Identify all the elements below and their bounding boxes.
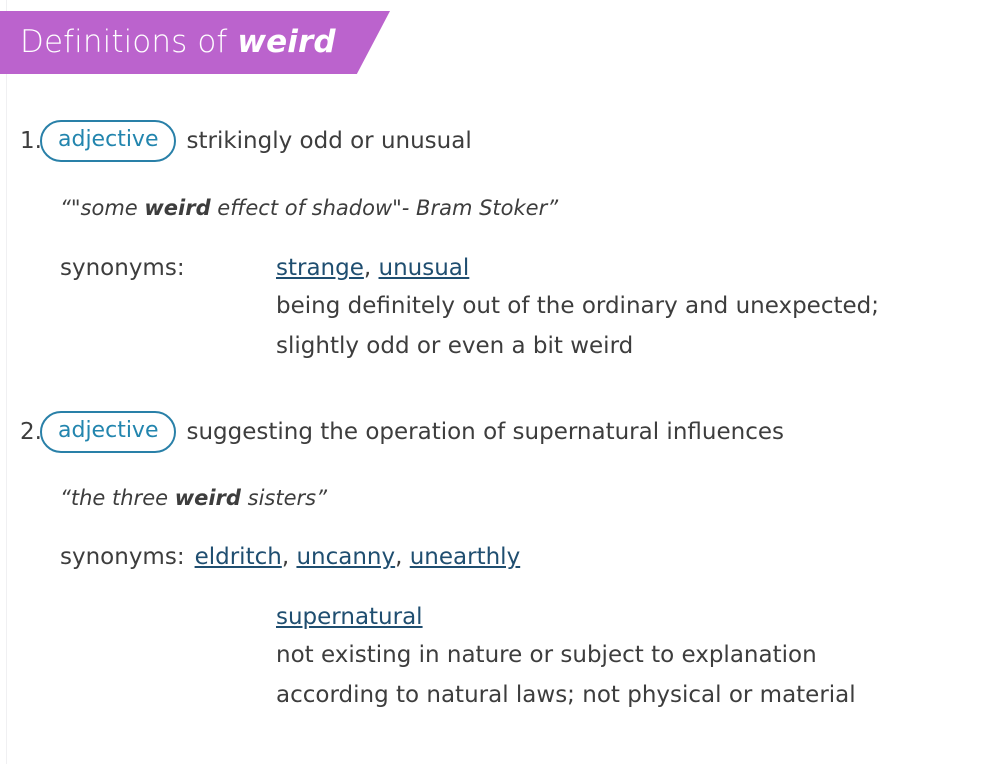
definition-1-synonym-definition-line-1: being definitely out of the ordinary and… bbox=[276, 287, 998, 327]
definition-2-extra-definition: not existing in nature or subject to exp… bbox=[276, 636, 998, 715]
synonym-link-unusual[interactable]: unusual bbox=[379, 255, 470, 281]
definition-entry-1: 1. adjective strikingly odd or unusual “… bbox=[0, 120, 998, 366]
header-banner: Definitions of weird bbox=[0, 11, 390, 74]
definitions-list: 1. adjective strikingly odd or unusual “… bbox=[0, 74, 998, 715]
synonym-link-unearthly[interactable]: unearthly bbox=[410, 544, 520, 570]
definition-1-synonym-definition: being definitely out of the ordinary and… bbox=[276, 287, 998, 366]
definition-2-headline: 2. adjective suggesting the operation of… bbox=[0, 411, 998, 453]
synonym-link-uncanny[interactable]: uncanny bbox=[296, 544, 395, 570]
part-of-speech-badge-2[interactable]: adjective bbox=[40, 411, 176, 453]
definition-1-quote-open: “"some bbox=[60, 196, 144, 220]
definition-2-quote-close: sisters” bbox=[241, 486, 327, 510]
definition-1-number: 1. bbox=[0, 128, 40, 154]
definition-2-synonyms-body: eldritch, uncanny, unearthly bbox=[195, 544, 998, 570]
definition-2-number: 2. bbox=[0, 419, 40, 445]
part-of-speech-badge-1[interactable]: adjective bbox=[40, 120, 176, 162]
page-title: Definitions of weird bbox=[20, 11, 336, 74]
synonym-link-strange[interactable]: strange bbox=[276, 255, 364, 281]
definition-1-synonyms-body: strange, unusual being definitely out of… bbox=[276, 255, 998, 366]
definition-1-synonym-links: strange, unusual bbox=[276, 255, 998, 281]
definition-2-extra-block: supernatural not existing in nature or s… bbox=[0, 604, 998, 715]
definitions-page: Definitions of weird 1. adjective striki… bbox=[0, 0, 998, 764]
definition-entry-2: 2. adjective suggesting the operation of… bbox=[0, 411, 998, 715]
definition-2-extra-definition-line-1: not existing in nature or subject to exp… bbox=[276, 636, 998, 676]
definition-2-quote-word: weird bbox=[175, 486, 241, 510]
definition-1-gloss: strikingly odd or unusual bbox=[186, 128, 471, 154]
synonym-separator: , bbox=[364, 255, 379, 281]
definition-2-quote-open: “the three bbox=[60, 486, 175, 510]
definition-2-quote: “the three weird sisters” bbox=[0, 486, 998, 510]
definition-1-synonyms-label: synonyms: bbox=[0, 255, 276, 281]
definition-2-synonyms-block: synonyms: eldritch, uncanny, unearthly bbox=[0, 544, 998, 570]
definition-1-quote-word: weird bbox=[144, 196, 210, 220]
definition-2-extra-link-row: supernatural bbox=[276, 604, 998, 630]
synonym-link-eldritch[interactable]: eldritch bbox=[195, 544, 282, 570]
definition-1-synonym-definition-line-2: slightly odd or even a bit weird bbox=[276, 327, 998, 367]
definition-1-quote: “"some weird effect of shadow"- Bram Sto… bbox=[0, 196, 998, 220]
definition-1-synonyms-block: synonyms: strange, unusual being definit… bbox=[0, 255, 998, 366]
page-title-word: weird bbox=[237, 24, 335, 60]
synonym-link-supernatural[interactable]: supernatural bbox=[276, 604, 423, 630]
synonym-separator: , bbox=[395, 544, 410, 570]
definition-2-gloss: suggesting the operation of supernatural… bbox=[186, 419, 783, 445]
definition-2-extra-definition-line-2: according to natural laws; not physical … bbox=[276, 676, 998, 716]
definition-1-headline: 1. adjective strikingly odd or unusual bbox=[0, 120, 998, 162]
definition-2-synonym-links: eldritch, uncanny, unearthly bbox=[195, 544, 998, 570]
definition-1-quote-close: effect of shadow"- Bram Stoker” bbox=[211, 196, 558, 220]
synonym-separator: , bbox=[282, 544, 297, 570]
definition-2-synonyms-label: synonyms: bbox=[0, 544, 195, 570]
page-title-prefix: Definitions of bbox=[20, 24, 237, 60]
